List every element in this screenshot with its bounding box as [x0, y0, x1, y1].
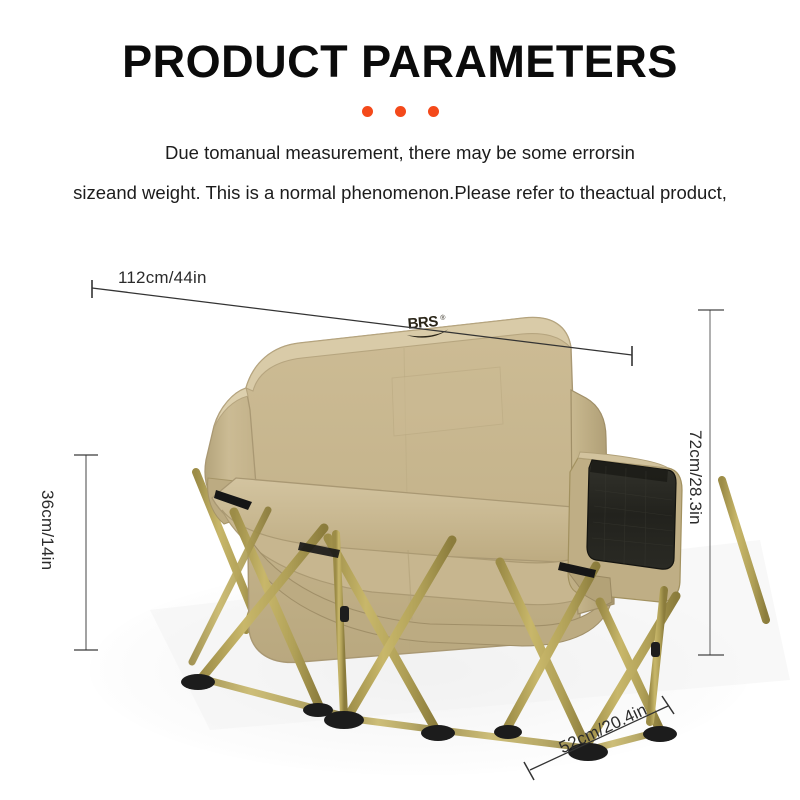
foot-3 [421, 725, 455, 741]
brand-patch [392, 367, 503, 436]
product-figure: BRS ® [0, 210, 800, 800]
page-title: PRODUCT PARAMETERS [0, 36, 800, 88]
svg-text:BRS: BRS [407, 313, 439, 333]
dot-icon-3 [428, 106, 439, 117]
description-line-1: Due tomanual measurement, there may be s… [0, 142, 800, 164]
dimension-label-seat-height: 36cm/14in [37, 490, 57, 570]
foot-5 [643, 726, 677, 742]
foot-6 [303, 703, 333, 717]
foot-1 [181, 674, 215, 690]
dimension-label-width: 112cm/44in [118, 268, 207, 288]
product-parameters-page: PRODUCT PARAMETERS Due tomanual measurem… [0, 0, 800, 800]
dimension-label-height: 72cm/28.3in [685, 430, 705, 525]
foot-7 [494, 725, 522, 739]
description-line-2: sizeand weight. This is a normal phenome… [0, 182, 800, 204]
dot-icon-1 [362, 106, 373, 117]
dot-icon-2 [395, 106, 406, 117]
decorative-dots [0, 106, 800, 117]
svg-text:®: ® [440, 313, 447, 321]
